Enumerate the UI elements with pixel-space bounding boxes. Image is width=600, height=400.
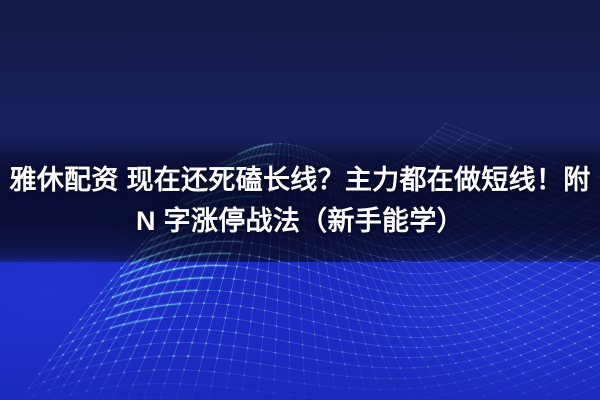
headline-line-2: N 字涨停战法（新手能学）	[0, 201, 600, 242]
article-banner: 雅休配资 现在还死磕长线？主力都在做短线！附 N 字涨停战法（新手能学）	[0, 0, 600, 400]
headline: 雅休配资 现在还死磕长线？主力都在做短线！附 N 字涨停战法（新手能学）	[0, 160, 600, 242]
headline-line-1: 雅休配资 现在还死磕长线？主力都在做短线！附	[0, 160, 600, 201]
